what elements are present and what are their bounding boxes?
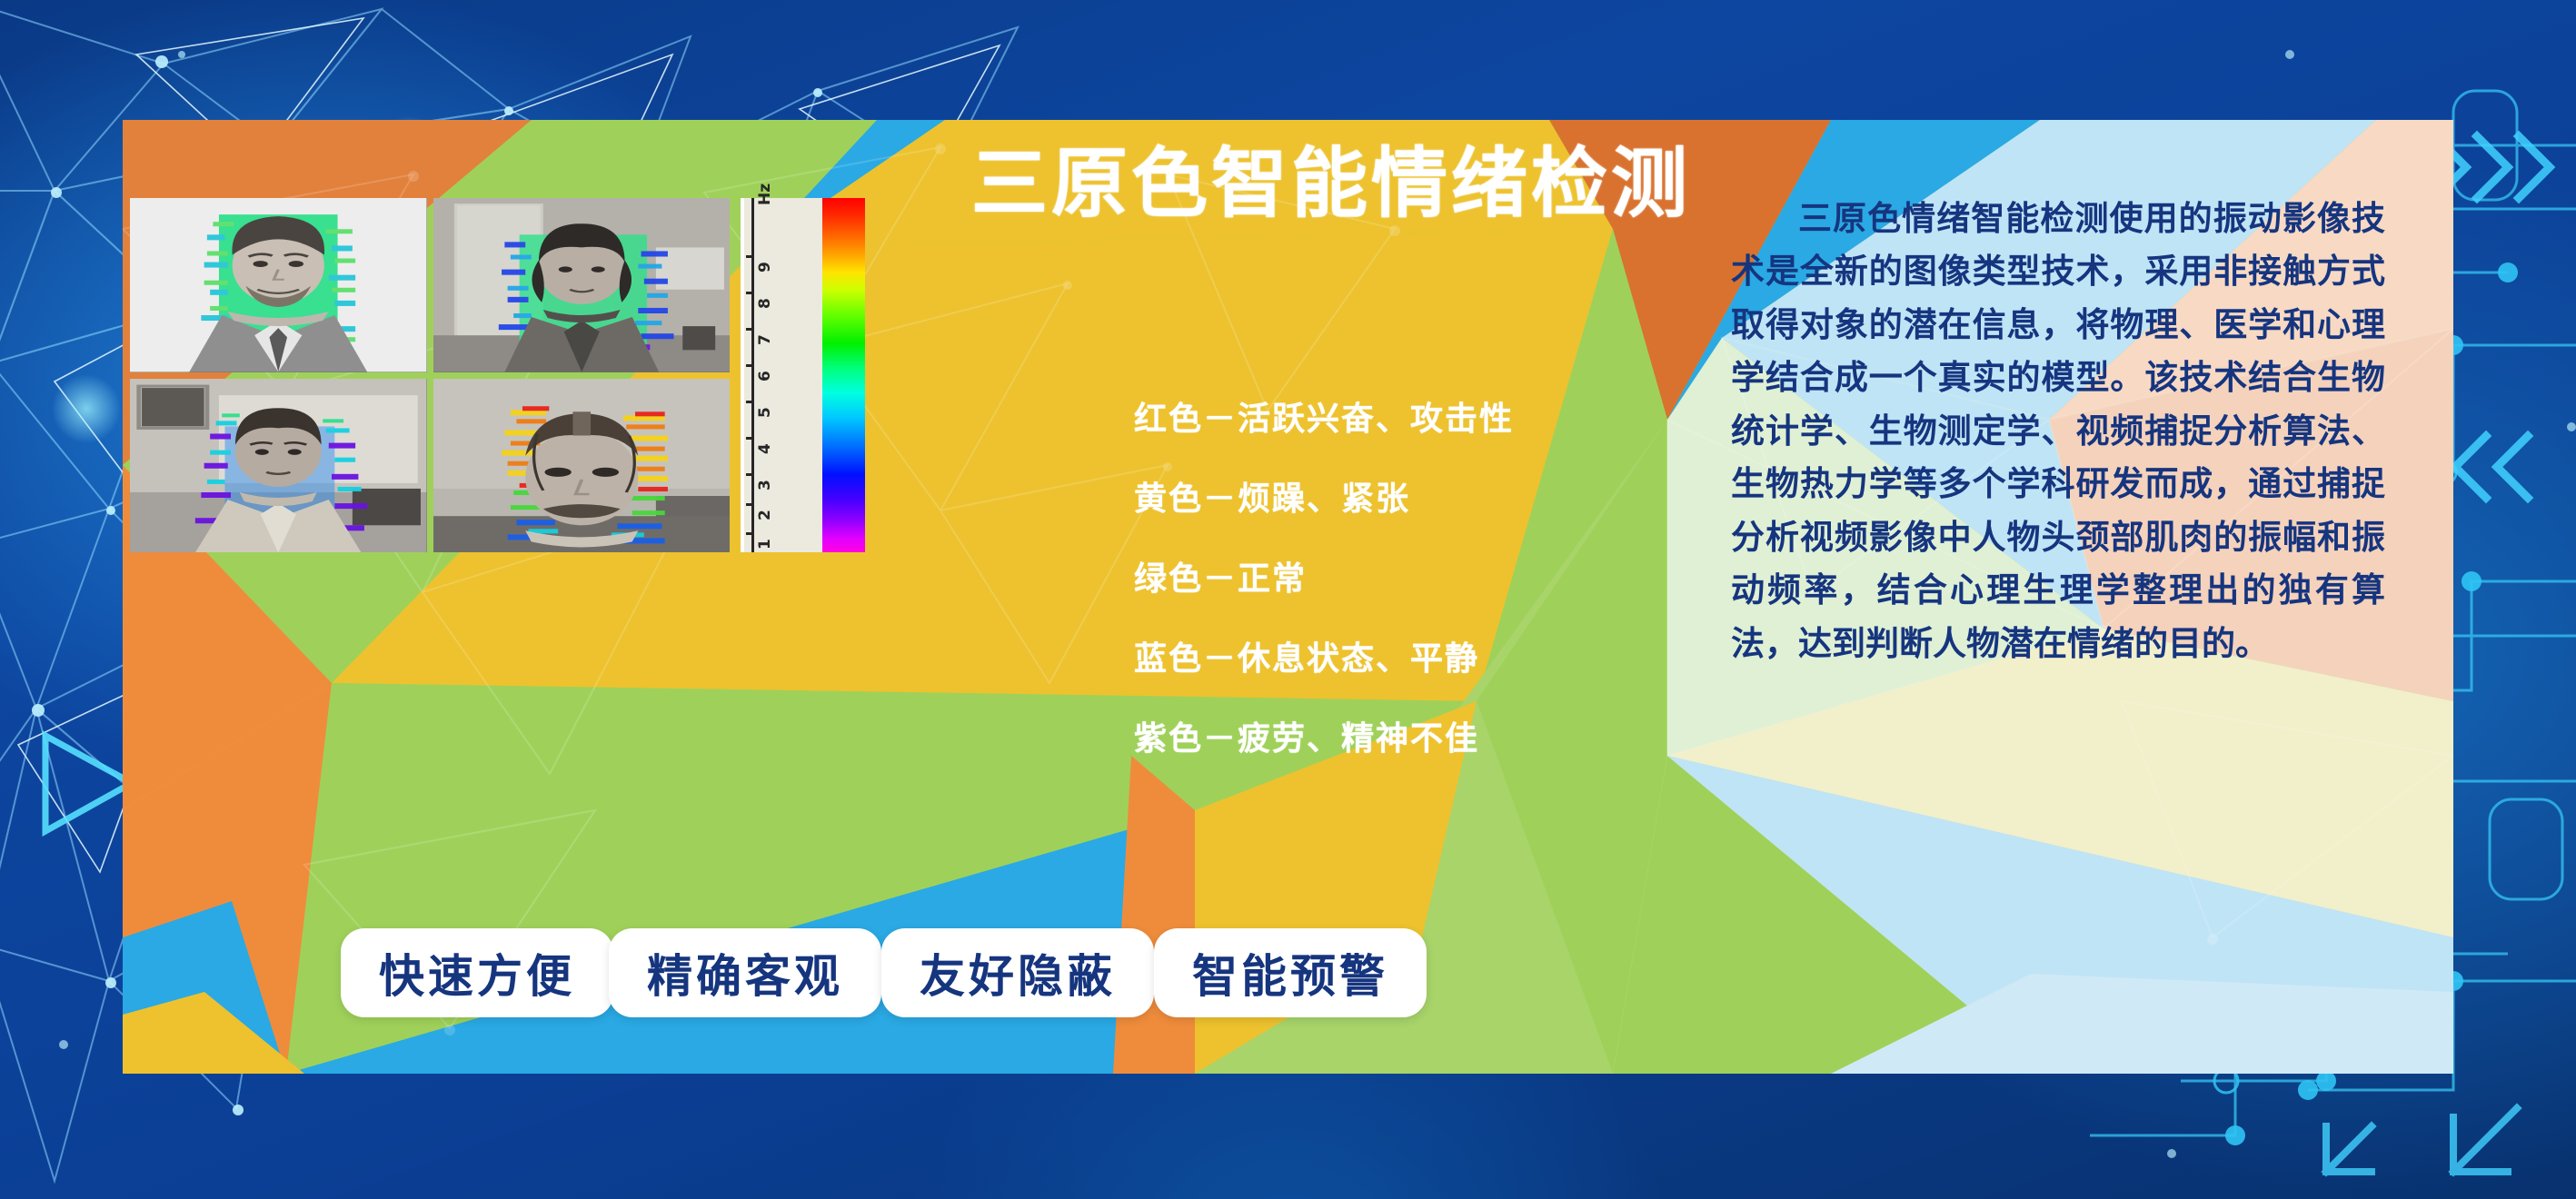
description-paragraph: 三原色情绪智能检测使用的振动影像技术是全新的图像类型技术，采用非接触方式取得对象… xyxy=(1731,193,2385,670)
photo-thumbnail[interactable] xyxy=(130,198,427,372)
colorbar-tick-label: 1 xyxy=(756,539,774,550)
colorbar-tick-label: 6 xyxy=(756,371,774,381)
frequency-colorbar: Hz 9 8 7 6 5 4 3 2 1 xyxy=(741,198,865,552)
colorbar-axis-line xyxy=(751,198,754,552)
feature-pill-smart-alert[interactable]: 智能预警 xyxy=(1154,928,1427,1017)
photo-thumbnail[interactable] xyxy=(130,379,427,553)
colorbar-tick-label: 5 xyxy=(756,407,774,418)
feature-pill-friendly-covert[interactable]: 友好隐蔽 xyxy=(881,928,1154,1017)
colorbar-tick-label: 4 xyxy=(756,443,774,454)
colorbar-gradient xyxy=(822,198,865,552)
feature-pill-label: 精确客观 xyxy=(647,940,843,1006)
legend-item: 蓝色－休息状态、平静 xyxy=(1134,632,1825,679)
feature-pill-row: 快速方便 精确客观 友好隐蔽 智能预警 xyxy=(123,928,2453,1037)
colorbar-scale: Hz 9 8 7 6 5 4 3 2 1 xyxy=(741,198,822,552)
feature-pill-label: 友好隐蔽 xyxy=(920,940,1116,1006)
vibraimage-photo-grid xyxy=(130,198,730,552)
feature-pill-label: 快速方便 xyxy=(379,940,575,1006)
feature-pill-fast-convenient[interactable]: 快速方便 xyxy=(341,928,613,1017)
colorbar-tick-label: 7 xyxy=(756,334,774,345)
legend-item: 红色－活跃兴奋、攻击性 xyxy=(1134,392,1825,440)
legend-item: 紫色－疲劳、精神不佳 xyxy=(1134,712,1825,759)
colorbar-tick-label: 9 xyxy=(756,262,774,272)
colorbar-tick-label: 8 xyxy=(756,298,774,309)
colorbar-tick-label: 2 xyxy=(756,510,774,520)
colorbar-tick-label: 3 xyxy=(756,480,774,490)
photo-thumbnail[interactable] xyxy=(433,379,731,553)
photo-thumbnail[interactable] xyxy=(433,198,731,372)
page-title: 三原色智能情绪检测 xyxy=(868,145,1795,222)
feature-pill-label: 智能预警 xyxy=(1192,940,1388,1006)
feature-pill-accurate-objective[interactable]: 精确客观 xyxy=(609,928,881,1017)
legend-item: 绿色－正常 xyxy=(1134,552,1825,599)
emotion-color-legend: 红色－活跃兴奋、攻击性 黄色－烦躁、紧张 绿色－正常 蓝色－休息状态、平静 紫色… xyxy=(1134,392,1825,759)
colorbar-unit-label: Hz xyxy=(756,183,774,205)
poster-card: 三原色智能情绪检测 xyxy=(123,120,2453,1074)
legend-item: 黄色－烦躁、紧张 xyxy=(1134,472,1825,520)
